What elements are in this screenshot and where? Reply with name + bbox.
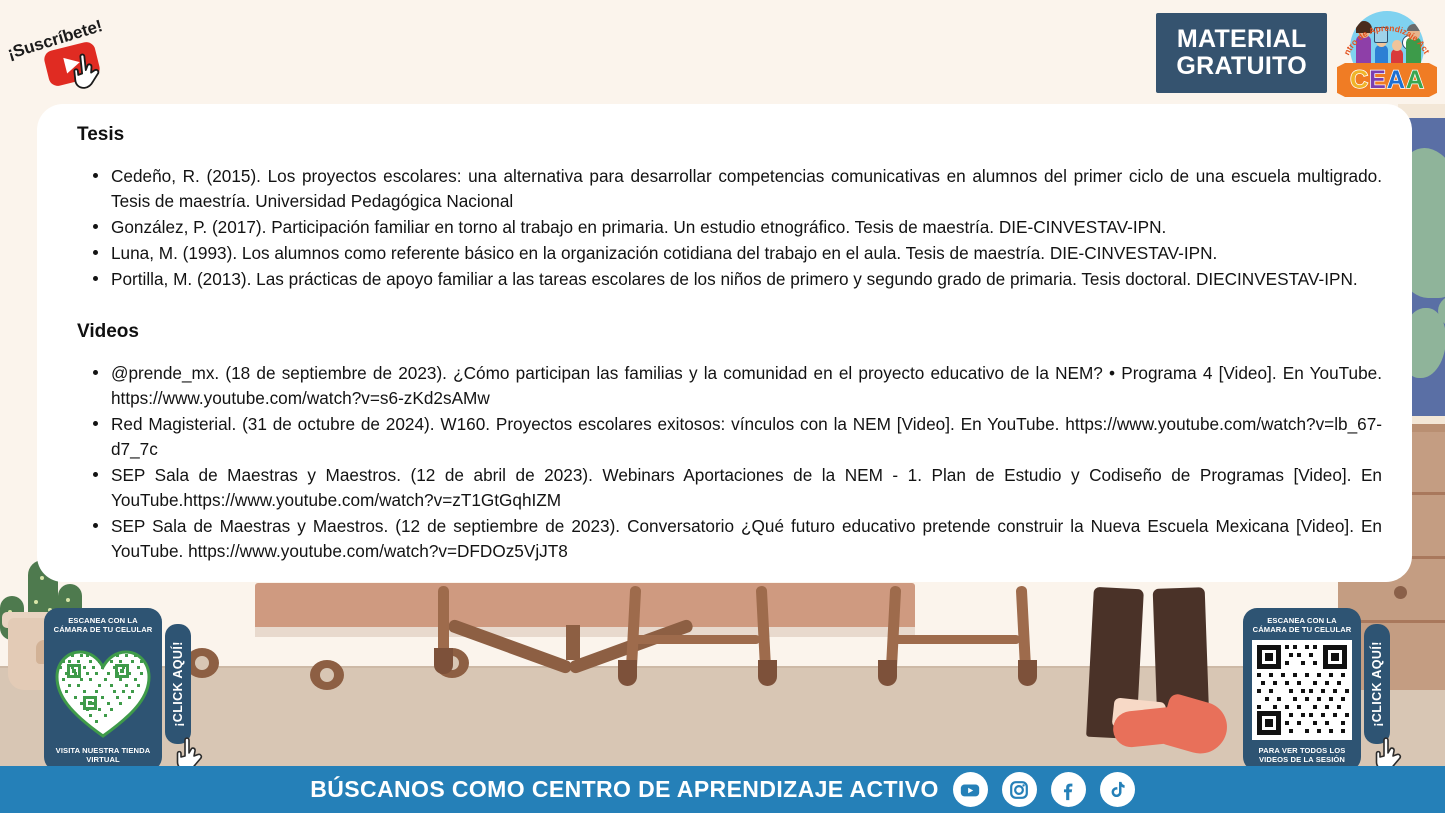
list-item: Red Magisterial. (31 de octubre de 2024)… (93, 412, 1382, 462)
table-crossbar (894, 635, 1020, 644)
list-item: Portilla, M. (2013). Las prácticas de ap… (93, 267, 1382, 292)
list-item: SEP Sala de Maestras y Maestros. (12 de … (93, 463, 1382, 513)
ceaa-letter: A (1406, 68, 1424, 93)
table-foot (758, 660, 777, 686)
cactus-spine-icon (40, 576, 44, 580)
section-title-videos: Videos (77, 321, 1398, 343)
list-item: Cedeño, R. (2015). Los proyectos escolar… (93, 164, 1382, 214)
tiktok-icon[interactable] (1100, 772, 1135, 807)
list-item: González, P. (2017). Participación famil… (93, 215, 1382, 240)
cabinet-knob-icon (1394, 586, 1407, 599)
ceaa-banner: C E A A (1337, 63, 1437, 97)
footer-label: BÚSCANOS COMO CENTRO DE APRENDIZAJE ACTI… (310, 776, 938, 803)
section-title-tesis: Tesis (77, 124, 1398, 146)
youtube-icon[interactable] (953, 772, 988, 807)
ceaa-logo: Centro de Aprendizaje Activo C E A A (1337, 7, 1437, 99)
floor (0, 668, 1445, 773)
svg-text:Centro de Aprendizaje Activo: Centro de Aprendizaje Activo (1337, 7, 1432, 57)
ceaa-letter: A (1387, 68, 1405, 93)
reference-list-tesis: Cedeño, R. (2015). Los proyectos escolar… (93, 164, 1382, 293)
footer-bar: BÚSCANOS COMO CENTRO DE APRENDIZAJE ACTI… (0, 766, 1445, 813)
table-foot (434, 648, 453, 674)
table-crossbar (634, 635, 760, 644)
list-item: @prende_mx. (18 de septiembre de 2023). … (93, 361, 1382, 411)
qr-code-heart-icon[interactable] (53, 640, 153, 740)
desk-top (255, 583, 915, 633)
click-here-tab[interactable]: ¡CLICK AQUÍ! (1364, 624, 1390, 744)
slide-canvas: ¡Suscríbete! MATERIAL GRATUITO (0, 0, 1445, 813)
cactus-spine-icon (66, 598, 70, 602)
facebook-icon[interactable] (1051, 772, 1086, 807)
brand-header: MATERIAL GRATUITO (1156, 6, 1437, 100)
ceaa-acronym: C E A A (1350, 68, 1424, 93)
cactus-spine-icon (34, 600, 38, 604)
qr-badge-videos[interactable]: ESCANEA CON LA CÁMARA DE TU CELULAR (1243, 608, 1390, 771)
list-item: SEP Sala de Maestras y Maestros. (12 de … (93, 514, 1382, 564)
list-item: Luna, M. (1993). Los alumnos como refere… (93, 241, 1382, 266)
qr-card[interactable]: ESCANEA CON LA CÁMARA DE TU CELULAR (44, 608, 162, 771)
table-foot (878, 660, 897, 686)
chair-stem (566, 625, 580, 660)
desk-shadow (255, 627, 915, 637)
material-line-2: GRATUITO (1176, 53, 1307, 80)
qr-card[interactable]: ESCANEA CON LA CÁMARA DE TU CELULAR (1243, 608, 1361, 771)
subscribe-badge[interactable]: ¡Suscríbete! (8, 8, 128, 96)
pointing-hand-icon (68, 50, 106, 93)
qr-instruction-text: ESCANEA CON LA CÁMARA DE TU CELULAR (53, 616, 153, 635)
qr-caption-text: VISITA NUESTRA TIENDA VIRTUAL (53, 746, 153, 765)
table-foot (618, 660, 637, 686)
qr-badge-tienda[interactable]: ESCANEA CON LA CÁMARA DE TU CELULAR (44, 608, 191, 771)
ceaa-arc-label: Centro de Aprendizaje Activo (1337, 7, 1432, 57)
content-card: Tesis Cedeño, R. (2015). Los proyectos e… (37, 104, 1412, 582)
qr-caption-text: PARA VER TODOS LOS VIDEOS DE LA SESIÓN (1252, 746, 1352, 765)
qr-instruction-text: ESCANEA CON LA CÁMARA DE TU CELULAR (1252, 616, 1352, 635)
click-here-label: ¡CLICK AQUÍ! (171, 641, 185, 727)
instagram-icon[interactable] (1002, 772, 1037, 807)
chair-caster-icon (310, 660, 344, 690)
content-card-body: Tesis Cedeño, R. (2015). Los proyectos e… (37, 124, 1412, 564)
table-foot (1018, 660, 1037, 686)
ceaa-letter: E (1369, 68, 1386, 93)
qr-code-square-icon[interactable] (1252, 640, 1352, 740)
ceaa-arc-text: Centro de Aprendizaje Activo (1337, 7, 1437, 69)
click-here-tab[interactable]: ¡CLICK AQUÍ! (165, 624, 191, 744)
click-here-label: ¡CLICK AQUÍ! (1370, 641, 1384, 727)
material-gratuito-badge: MATERIAL GRATUITO (1156, 13, 1327, 93)
ceaa-letter: C (1350, 68, 1368, 93)
material-line-1: MATERIAL (1176, 26, 1307, 53)
reference-list-videos: @prende_mx. (18 de septiembre de 2023). … (93, 361, 1382, 565)
